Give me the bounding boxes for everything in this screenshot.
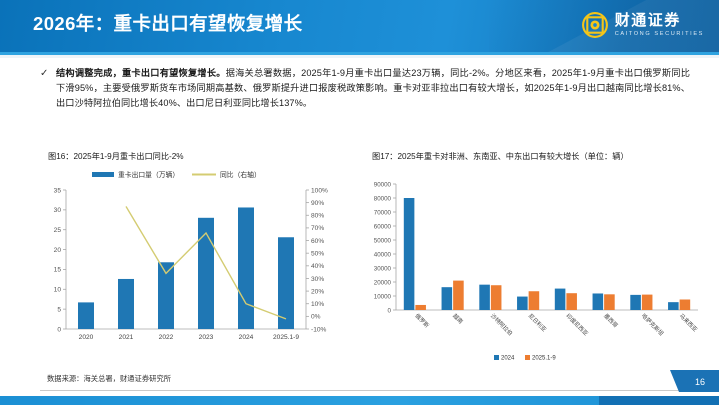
- y-tick-label: 30: [54, 207, 62, 214]
- figure17-svg: 0100002000030000400005000060000700008000…: [362, 176, 710, 366]
- y-tick-label: 90000: [374, 181, 392, 188]
- y2-tick-label: 40%: [311, 263, 324, 270]
- y2-tick-label: 90%: [311, 200, 324, 207]
- x-tick-label: 2021: [119, 334, 134, 341]
- x-tick-label: 哈萨克斯坦: [640, 312, 666, 338]
- y-tick-label: 70000: [374, 209, 392, 216]
- y2-tick-label: 80%: [311, 213, 324, 220]
- y-tick-label: 5: [57, 306, 61, 313]
- bar: [118, 279, 134, 329]
- figure16-svg: 重卡出口量（万辆）同比（右轴）05101520253035-10%0%10%20…: [40, 166, 350, 351]
- y-tick-label: 80000: [374, 195, 392, 202]
- caitong-logo-icon: [581, 11, 609, 39]
- bar: [415, 305, 426, 310]
- figure16-title: 图16：2025年1-9月重卡出口同比-2%: [48, 150, 184, 162]
- bar: [238, 207, 254, 329]
- y-tick-label: 20: [54, 247, 62, 254]
- legend-label-2025: 2025.1-9: [532, 355, 556, 361]
- bar: [680, 300, 691, 311]
- bullet-point: ✓ 结构调整完成，重卡出口有望恢复增长。据海关总署数据，2025年1-9月重卡出…: [40, 66, 690, 112]
- x-tick-label: 印度尼西亚: [564, 312, 590, 338]
- logo-text-en: CAITONG SECURITIES: [615, 31, 704, 37]
- y-tick-label: 35: [54, 187, 62, 194]
- y-tick-label: 10000: [374, 293, 392, 300]
- page-title: 2026年：重卡出口有望恢复增长: [33, 10, 303, 36]
- x-tick-label: 2025.1-9: [273, 334, 299, 341]
- bar: [78, 302, 94, 329]
- check-icon: ✓: [40, 66, 50, 112]
- footer-bar-accent: [599, 396, 719, 405]
- x-tick-label: 墨西哥: [602, 312, 619, 329]
- y-tick-label: 25: [54, 227, 62, 234]
- bar: [442, 287, 453, 310]
- legend-swatch-bar: [92, 172, 114, 177]
- header-rule-secondary: [0, 55, 719, 58]
- y2-tick-label: -10%: [311, 326, 327, 333]
- source-note: 数据来源：海关总署，财通证券研究所: [47, 374, 171, 384]
- page-number: 16: [695, 377, 705, 387]
- x-tick-label: 尼日利亚: [527, 312, 549, 334]
- y2-tick-label: 0%: [311, 314, 321, 321]
- x-tick-label: 2022: [159, 334, 174, 341]
- x-tick-label: 2024: [239, 334, 254, 341]
- bar: [529, 291, 540, 310]
- bar: [566, 293, 577, 310]
- bar: [479, 285, 490, 310]
- y2-tick-label: 60%: [311, 238, 324, 245]
- y-tick-label: 60000: [374, 223, 392, 230]
- x-tick-label: 沙特阿拉伯: [489, 312, 514, 337]
- legend-label-2024: 2024: [501, 355, 515, 361]
- bar: [593, 293, 604, 310]
- bar: [642, 295, 653, 310]
- brand-logo: 财通证券 CAITONG SECURITIES: [581, 11, 704, 39]
- bar: [668, 302, 679, 310]
- legend-swatch-2024: [494, 355, 499, 360]
- y2-tick-label: 30%: [311, 276, 324, 283]
- y2-tick-label: 50%: [311, 250, 324, 257]
- footer-divider: [40, 390, 686, 391]
- bar: [517, 297, 528, 310]
- bar: [198, 218, 214, 329]
- legend-label-line: 同比（右轴）: [220, 170, 261, 179]
- slide-header: 2026年：重卡出口有望恢复增长 财通证券 CAITONG SECURITIES: [0, 0, 719, 52]
- x-tick-label: 马来西亚: [678, 312, 700, 334]
- y-tick-label: 15: [54, 267, 62, 274]
- figure16-chart: 重卡出口量（万辆）同比（右轴）05101520253035-10%0%10%20…: [40, 166, 350, 351]
- bar: [604, 294, 615, 310]
- legend-label-bar: 重卡出口量（万辆）: [118, 170, 179, 179]
- y2-tick-label: 20%: [311, 288, 324, 295]
- y2-tick-label: 100%: [311, 187, 328, 194]
- legend-swatch-2025: [525, 355, 530, 360]
- bar: [555, 289, 566, 310]
- figure17-title: 图17：2025年重卡对非洲、东南亚、中东出口有较大增长（单位：辆）: [372, 150, 629, 162]
- logo-text-cn: 财通证券: [615, 13, 704, 29]
- y-tick-label: 50000: [374, 237, 392, 244]
- y-tick-label: 10: [54, 287, 62, 294]
- y-tick-label: 40000: [374, 251, 392, 258]
- figure17-chart: 0100002000030000400005000060000700008000…: [362, 176, 710, 366]
- bar: [453, 281, 464, 310]
- y-tick-label: 0: [388, 307, 392, 314]
- y2-tick-label: 10%: [311, 301, 324, 308]
- bar: [404, 198, 415, 310]
- x-tick-label: 2020: [79, 334, 94, 341]
- bar: [491, 285, 502, 310]
- bullet-text: 结构调整完成，重卡出口有望恢复增长。据海关总署数据，2025年1-9月重卡出口量…: [56, 66, 690, 112]
- bar: [278, 237, 294, 329]
- y-tick-label: 0: [57, 326, 61, 333]
- x-tick-label: 2023: [199, 334, 214, 341]
- figure16-legend: 重卡出口量（万辆）同比（右轴）: [92, 170, 261, 179]
- y-tick-label: 20000: [374, 279, 392, 286]
- x-tick-label: 俄罗斯: [413, 312, 431, 330]
- y-tick-label: 30000: [374, 265, 392, 272]
- x-tick-label: 越南: [451, 312, 465, 326]
- bar: [630, 295, 641, 310]
- bullet-lead: 结构调整完成，重卡出口有望恢复增长。: [56, 68, 226, 78]
- y2-tick-label: 70%: [311, 225, 324, 232]
